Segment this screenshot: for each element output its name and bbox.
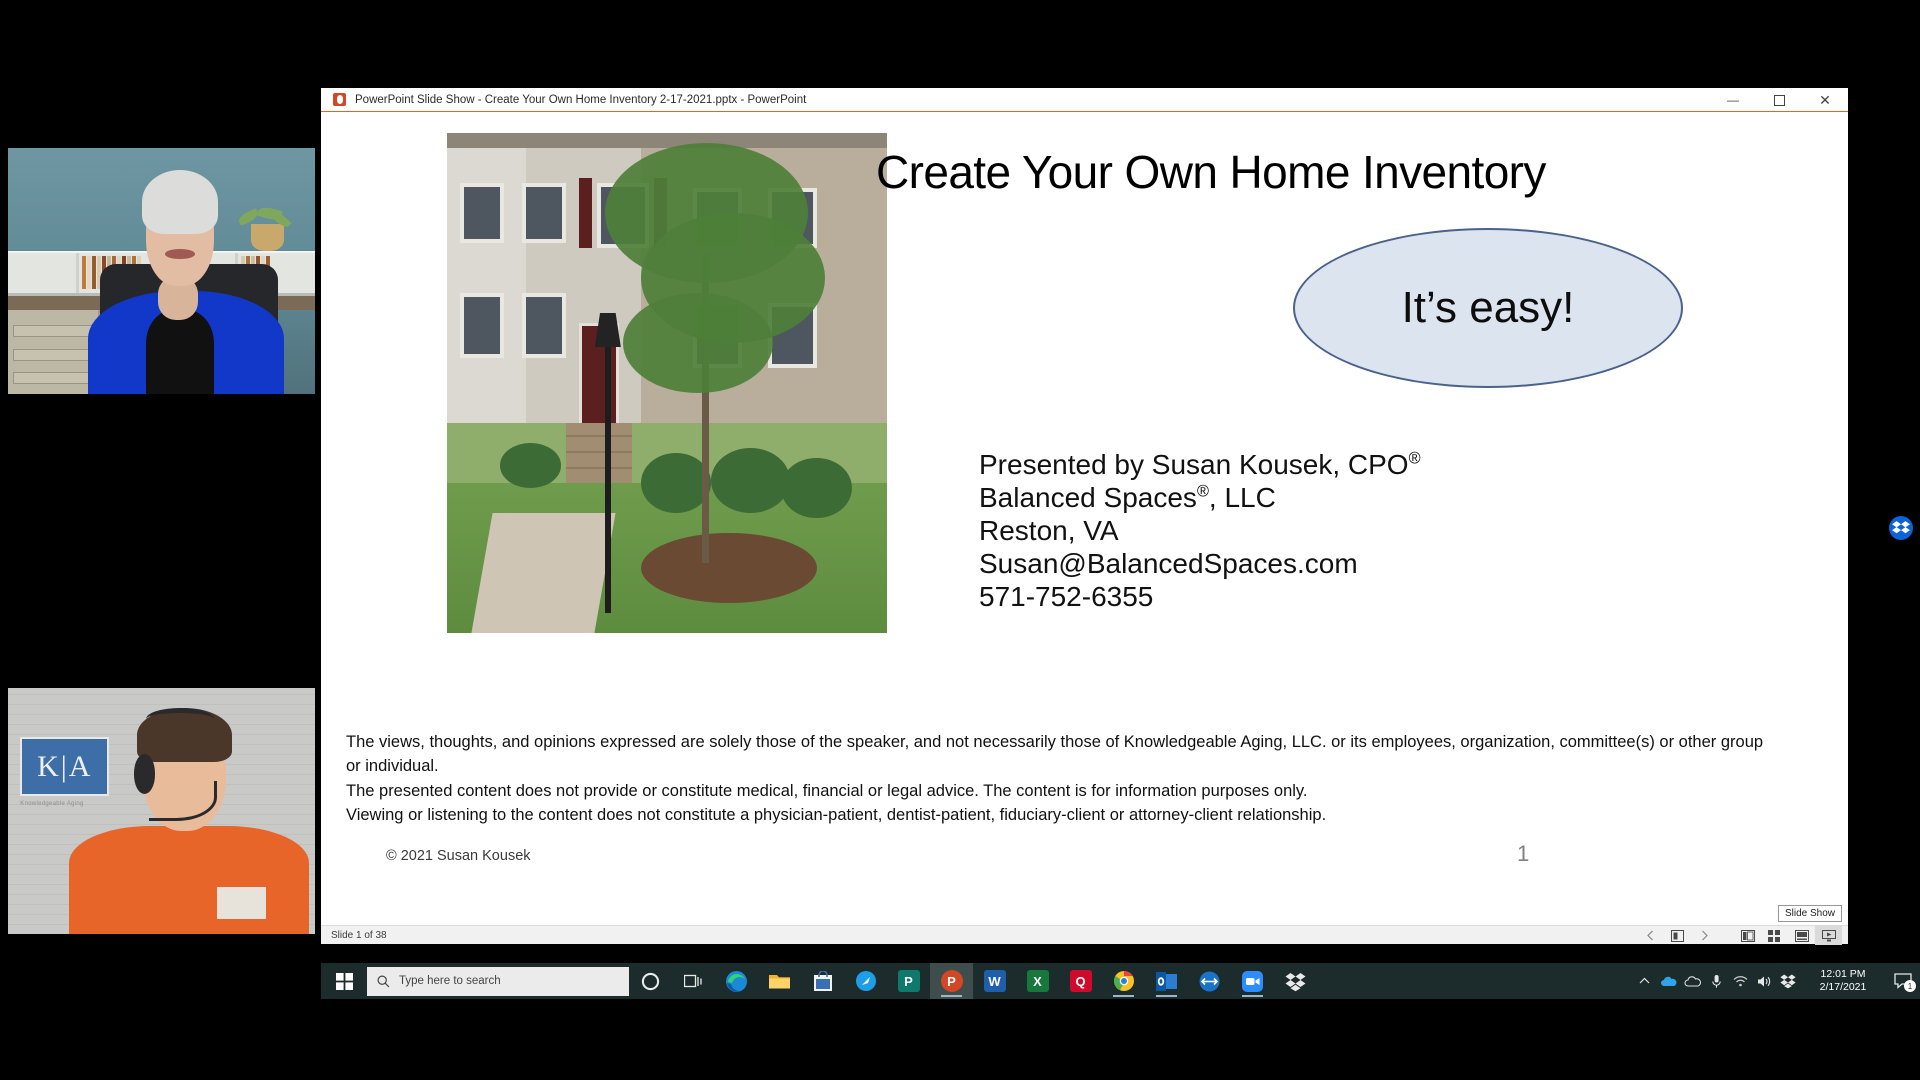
slide-title: Create Your Own Home Inventory [876,145,1776,199]
speaker-inner-shirt [146,310,214,394]
dropbox-icon[interactable] [1888,515,1914,541]
microsoft-store-icon[interactable] [801,963,844,999]
powerpoint-window: PowerPoint Slide Show - Create Your Own … [321,88,1848,944]
headset-band-icon [146,708,214,730]
lamp-post [605,333,611,613]
presenter-location-line: Reston, VA [979,514,1421,547]
publisher-glyph: P [898,970,920,992]
slide-show-tooltip: Slide Show [1778,905,1842,922]
onedrive-white-icon[interactable] [1680,963,1704,999]
browser-icon[interactable] [844,963,887,999]
powerpoint-glyph: P [941,970,963,992]
reading-view-button[interactable] [1788,926,1815,945]
search-placeholder: Type here to search [399,975,501,987]
slide-content: Create Your Own Home Inventory It’s easy… [321,113,1848,925]
search-icon [377,975,390,988]
presenter-email-line: Susan@BalancedSpaces.com [979,547,1421,580]
slide-show-canvas[interactable]: Create Your Own Home Inventory It’s easy… [321,113,1848,925]
onedrive-blue-icon[interactable] [1656,963,1680,999]
host-video-tile[interactable]: K|A Knowledgeable Aging [4,682,319,940]
notifications-button[interactable]: 1 [1886,963,1920,999]
close-button[interactable]: ✕ [1802,88,1848,112]
logo-text: K|A [37,750,92,784]
host-torso [69,826,308,934]
copyright-text: © 2021 Susan Kousek [386,848,531,864]
mouth [165,249,196,259]
zoom-icon[interactable] [1231,963,1274,999]
mulch-bed [641,533,817,603]
previous-slide-arrow[interactable] [1637,926,1664,945]
powerpoint-status-bar: Slide 1 of 38 [321,925,1848,944]
screen-background-top [321,0,1920,88]
knowledgeable-aging-logo: K|A [20,737,109,796]
disclaimer-line-2: The presented content does not provide o… [346,779,1778,803]
logo-subtitle: Knowledgeable Aging [20,801,112,807]
its-easy-callout: It’s easy! [1293,228,1683,388]
taskbar-search-box[interactable]: Type here to search [367,967,629,996]
normal-view-button[interactable] [1734,926,1761,945]
notification-badge: 1 [1904,980,1916,992]
minimize-button[interactable]: — [1710,88,1756,112]
presenter-name-line: Presented by Susan Kousek, CPO® [979,448,1421,481]
excel-glyph: X [1027,970,1049,992]
window-titlebar[interactable]: PowerPoint Slide Show - Create Your Own … [321,88,1848,112]
walkway [472,513,616,633]
quicken-glyph: Q [1070,970,1092,992]
next-slide-arrow[interactable] [1691,926,1718,945]
file-explorer-icon[interactable] [758,963,801,999]
tray-chevron-icon[interactable] [1632,963,1656,999]
window-controls: — ✕ [1710,88,1848,112]
callout-text: It’s easy! [1402,283,1575,333]
host-video-frame: K|A Knowledgeable Aging [8,688,315,934]
system-tray: 12:01 PM 2/17/2021 1 [1632,963,1920,999]
task-view-icon[interactable] [672,963,715,999]
clock-date: 2/17/2021 [1800,981,1886,994]
powerpoint-icon [333,93,346,106]
taskbar-clock[interactable]: 12:01 PM 2/17/2021 [1800,968,1886,994]
disclaimer-line-1: The views, thoughts, and opinions expres… [346,730,1778,779]
presenter-company-line: Balanced Spaces®, LLC [979,481,1421,514]
powerpoint-icon[interactable]: P [930,963,973,999]
word-icon[interactable]: W [973,963,1016,999]
dropbox-icon[interactable] [1274,963,1317,999]
volume-icon[interactable] [1752,963,1776,999]
registered-mark-1: ® [1409,450,1421,468]
start-button[interactable] [321,963,367,999]
clock-time: 12:01 PM [1800,968,1886,981]
dropbox-icon[interactable] [1776,963,1800,999]
webcam-column: K|A Knowledgeable Aging [0,0,321,1080]
outlook-icon[interactable] [1145,963,1188,999]
registered-mark-2: ® [1197,483,1209,501]
slide-thumbnail-button[interactable] [1664,926,1691,945]
excel-icon[interactable]: X [1016,963,1059,999]
windows-taskbar: Type here to search P P W X Q [321,963,1920,999]
window-title: PowerPoint Slide Show - Create Your Own … [355,94,806,106]
restore-button[interactable] [1756,88,1802,112]
speaker-hair [142,170,219,234]
slide-sorter-button[interactable] [1761,926,1788,945]
speaker-video-tile[interactable] [4,142,319,400]
screen-background-bottom [321,999,1920,1080]
teamviewer-icon[interactable] [1188,963,1231,999]
presenter-phone-line: 571-752-6355 [979,580,1421,613]
disclaimer-text: The views, thoughts, and opinions expres… [346,730,1778,828]
filing-cabinet [8,310,100,394]
host-shirt-badge [217,887,266,919]
potted-plant [251,224,285,251]
word-glyph: W [984,970,1006,992]
slide-count-label: Slide 1 of 38 [331,930,387,941]
townhouse-photo [447,133,887,633]
status-bar-right-controls [1637,926,1842,945]
presenter-info: Presented by Susan Kousek, CPO® Balanced… [979,448,1421,613]
wifi-icon[interactable] [1728,963,1752,999]
slide-show-button[interactable] [1815,926,1842,945]
slide-number: 1 [1517,841,1529,867]
cortana-icon[interactable] [629,963,672,999]
google-chrome-icon[interactable] [1102,963,1145,999]
quicken-icon[interactable]: Q [1059,963,1102,999]
microphone-icon[interactable] [1704,963,1728,999]
speaker-video-frame [8,148,315,394]
microsoft-edge-icon[interactable] [715,963,758,999]
disclaimer-line-3: Viewing or listening to the content does… [346,803,1778,827]
publisher-icon[interactable]: P [887,963,930,999]
